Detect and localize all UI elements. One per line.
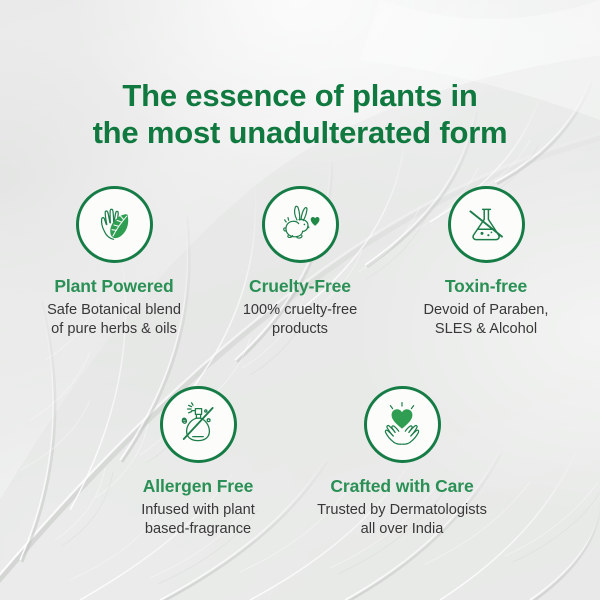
- feature-description: Devoid of Paraben, SLES & Alcohol: [424, 301, 549, 339]
- feature-description-line-1: Trusted by Dermatologists: [317, 501, 487, 520]
- feature-description-line-2: all over India: [317, 520, 487, 539]
- feature-crafted-with-care: Crafted with Care Trusted by Dermatologi…: [300, 386, 504, 539]
- feature-description-line-1: 100% cruelty-free: [243, 301, 357, 320]
- hands-holding-heart-icon: [377, 400, 427, 450]
- feature-description-line-1: Safe Botanical blend: [47, 301, 181, 320]
- no-fragrance-spray-bottle-icon: [174, 401, 222, 449]
- feature-icon-circle: [160, 386, 237, 463]
- feature-description: 100% cruelty-free products: [243, 301, 357, 339]
- feature-title: Cruelty-Free: [249, 276, 351, 297]
- feature-description-line-1: Devoid of Paraben,: [424, 301, 549, 320]
- rabbit-with-heart-icon: [275, 200, 325, 250]
- feature-icon-circle: [262, 186, 339, 263]
- feature-title: Toxin-free: [445, 276, 527, 297]
- feature-description-line-2: products: [243, 320, 357, 339]
- page-title: The essence of plants in the most unadul…: [0, 77, 600, 151]
- page-title-line-1: The essence of plants in: [0, 77, 600, 114]
- feature-description-line-1: Infused with plant: [141, 501, 255, 520]
- feature-title: Allergen Free: [143, 476, 254, 497]
- feature-row-1: Plant Powered Safe Botanical blend of pu…: [0, 186, 600, 339]
- feature-description-line-2: of pure herbs & oils: [47, 320, 181, 339]
- feature-description-line-2: based-fragrance: [141, 520, 255, 539]
- feature-description-line-2: SLES & Alcohol: [424, 320, 549, 339]
- feature-cruelty-free: Cruelty-Free 100% cruelty-free products: [207, 186, 393, 339]
- feature-icon-circle: [364, 386, 441, 463]
- feature-icon-circle: [76, 186, 153, 263]
- hand-holding-leaf-icon: [90, 201, 138, 249]
- feature-title: Crafted with Care: [330, 476, 473, 497]
- feature-description: Infused with plant based-fragrance: [141, 501, 255, 539]
- feature-icon-circle: [448, 186, 525, 263]
- feature-row-2: Allergen Free Infused with plant based-f…: [0, 386, 600, 539]
- feature-toxin-free: Toxin-free Devoid of Paraben, SLES & Alc…: [393, 186, 579, 339]
- promo-poster: The essence of plants in the most unadul…: [0, 0, 600, 600]
- page-title-line-2: the most unadulterated form: [0, 114, 600, 151]
- no-chemical-flask-icon: [463, 202, 509, 248]
- feature-plant-powered: Plant Powered Safe Botanical blend of pu…: [21, 186, 207, 339]
- feature-description: Trusted by Dermatologists all over India: [317, 501, 487, 539]
- feature-description: Safe Botanical blend of pure herbs & oil…: [47, 301, 181, 339]
- feature-allergen-free: Allergen Free Infused with plant based-f…: [96, 386, 300, 539]
- feature-title: Plant Powered: [54, 276, 173, 297]
